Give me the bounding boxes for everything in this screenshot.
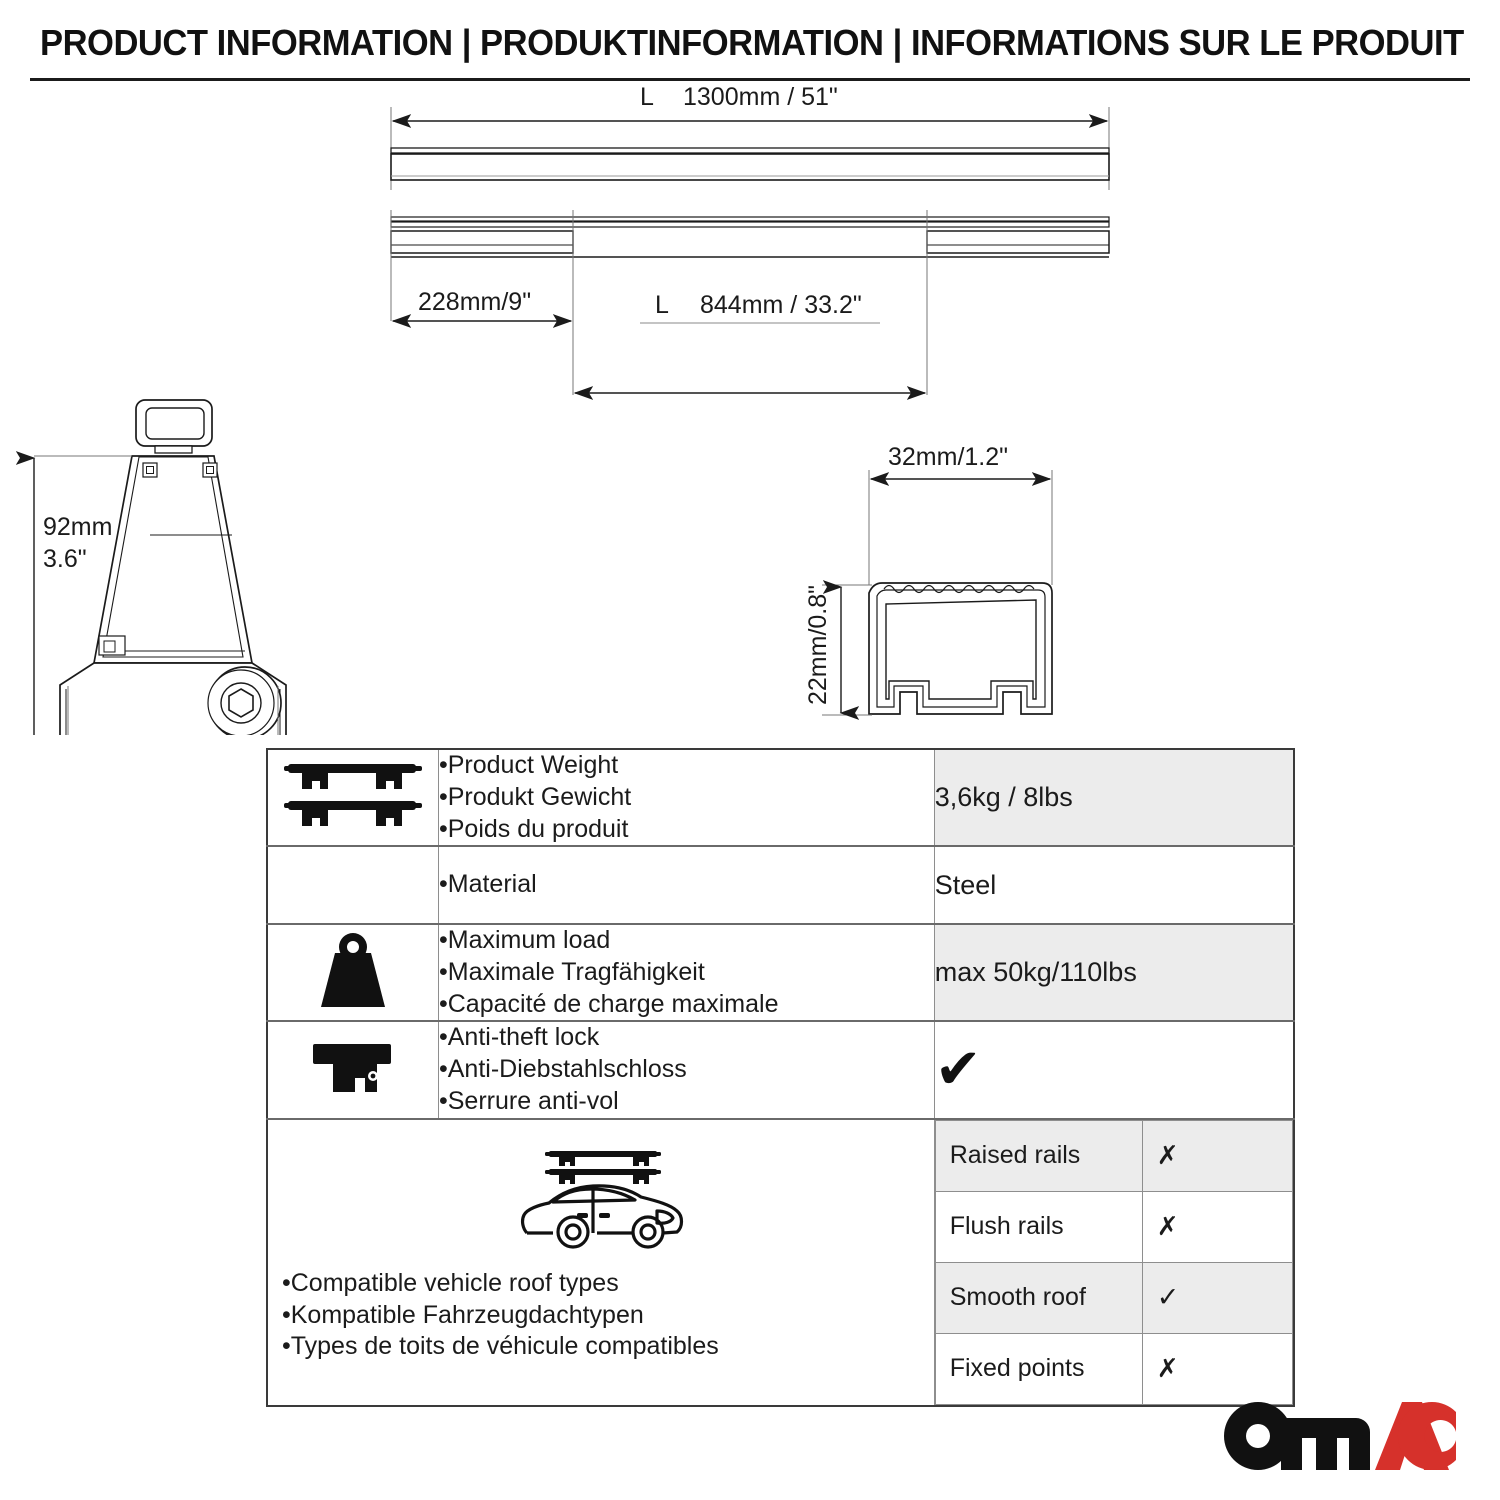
- lock-icon: [307, 1085, 399, 1102]
- table-row: •Material Steel: [267, 846, 1294, 924]
- profile-width-value: 32mm/1.2": [888, 443, 1008, 471]
- roof-type-name: Raised rails: [935, 1120, 1142, 1191]
- label-line: •Product Weight: [439, 750, 934, 782]
- label-line: •Serrure anti-vol: [439, 1086, 934, 1118]
- row-label-cell: •Product Weight •Produkt Gewicht •Poids …: [439, 749, 935, 846]
- foot-height-line2: 3.6": [43, 545, 87, 573]
- label-line: •Poids du produit: [439, 814, 934, 846]
- cross-icon: ✗: [1157, 1141, 1179, 1171]
- roof-type-table: Raised rails ✗ Flush rails ✗ Smooth roof: [935, 1120, 1293, 1405]
- row-value-cell: max 50kg/110lbs: [934, 924, 1294, 1021]
- profile-height-value: 22mm/0.8": [804, 585, 832, 705]
- technical-drawings: L 1300mm / 51" 228mm/9": [0, 85, 1500, 735]
- label-line: •Types de toits de véhicule compatibles: [282, 1331, 922, 1363]
- span-value: 844mm / 33.2": [700, 291, 862, 319]
- compat-label-cell: •Compatible vehicle roof types •Kompatib…: [267, 1119, 934, 1406]
- checkmark-icon: ✔: [935, 1037, 982, 1102]
- profile-width-dim: [869, 470, 1052, 585]
- specification-table: •Product Weight •Produkt Gewicht •Poids …: [266, 748, 1295, 1407]
- roof-type-row: Smooth roof ✓: [935, 1262, 1292, 1333]
- table-row: •Product Weight •Produkt Gewicht •Poids …: [267, 749, 1294, 846]
- row-icon-cell: [267, 749, 439, 846]
- bar-length-prefix: L: [640, 85, 654, 111]
- label-line: •Compatible vehicle roof types: [282, 1268, 922, 1300]
- foot-front-view: [60, 400, 286, 735]
- header-divider: [30, 78, 1470, 81]
- row-icon-cell: [267, 924, 439, 1021]
- bar-top-view: [391, 107, 1109, 190]
- roof-type-row: Flush rails ✗: [935, 1191, 1292, 1262]
- table-row-compatibility: •Compatible vehicle roof types •Kompatib…: [267, 1119, 1294, 1406]
- label-line: •Maximum load: [439, 925, 934, 957]
- weight-icon: [305, 998, 401, 1015]
- crossbars-icon: [278, 821, 428, 838]
- logo-letter-m: [1281, 1418, 1370, 1470]
- row-icon-cell: [267, 1021, 439, 1118]
- roof-type-name: Fixed points: [935, 1333, 1142, 1404]
- foot-height-line1: 92mm: [43, 513, 112, 541]
- compat-labels: •Compatible vehicle roof types •Kompatib…: [276, 1258, 926, 1373]
- product-information-sheet: PRODUCT INFORMATION | PRODUKTINFORMATION…: [0, 0, 1500, 1500]
- roof-type-mark: ✗: [1142, 1333, 1292, 1404]
- table-row: •Anti-theft lock •Anti-Diebstahlschloss …: [267, 1021, 1294, 1118]
- omac-logo: [1222, 1400, 1472, 1474]
- label-line: •Capacité de charge maximale: [439, 989, 934, 1021]
- label-line: •Kompatible Fahrzeugdachtypen: [282, 1300, 922, 1332]
- roof-type-row: Raised rails ✗: [935, 1120, 1292, 1191]
- row-label-cell: •Material: [439, 846, 935, 924]
- roof-type-row: Fixed points ✗: [935, 1333, 1292, 1404]
- row-value-cell: 3,6kg / 8lbs: [934, 749, 1294, 846]
- span-prefix: L: [655, 291, 669, 319]
- foot-offset-value: 228mm/9": [418, 288, 531, 316]
- roof-type-mark: ✗: [1142, 1120, 1292, 1191]
- check-icon: ✓: [1157, 1282, 1180, 1313]
- label-line: •Material: [439, 847, 934, 923]
- profile-cross-section: [869, 583, 1052, 714]
- compat-matrix-cell: Raised rails ✗ Flush rails ✗ Smooth roof: [934, 1119, 1294, 1406]
- label-line: •Anti-theft lock: [439, 1022, 934, 1054]
- roof-type-mark: ✓: [1142, 1262, 1292, 1333]
- label-line: •Anti-Diebstahlschloss: [439, 1054, 934, 1086]
- cross-icon: ✗: [1157, 1354, 1179, 1384]
- row-value-cell: Steel: [934, 846, 1294, 924]
- cross-icon: ✗: [1157, 1212, 1179, 1242]
- bar-length-value: 1300mm / 51": [683, 85, 838, 111]
- row-label-cell: •Maximum load •Maximale Tragfähigkeit •C…: [439, 924, 935, 1021]
- label-line: •Produkt Gewicht: [439, 782, 934, 814]
- page-title: PRODUCT INFORMATION | PRODUKTINFORMATION…: [40, 22, 1413, 64]
- row-icon-cell: [267, 846, 439, 924]
- row-value-cell: ✔: [934, 1021, 1294, 1118]
- roof-type-name: Flush rails: [935, 1191, 1142, 1262]
- table-row: •Maximum load •Maximale Tragfähigkeit •C…: [267, 924, 1294, 1021]
- roof-type-name: Smooth roof: [935, 1262, 1142, 1333]
- label-line: •Maximale Tragfähigkeit: [439, 957, 934, 989]
- row-label-cell: •Anti-theft lock •Anti-Diebstahlschloss …: [439, 1021, 935, 1118]
- roof-type-mark: ✗: [1142, 1191, 1292, 1262]
- car-with-rack-icon: [276, 1145, 926, 1258]
